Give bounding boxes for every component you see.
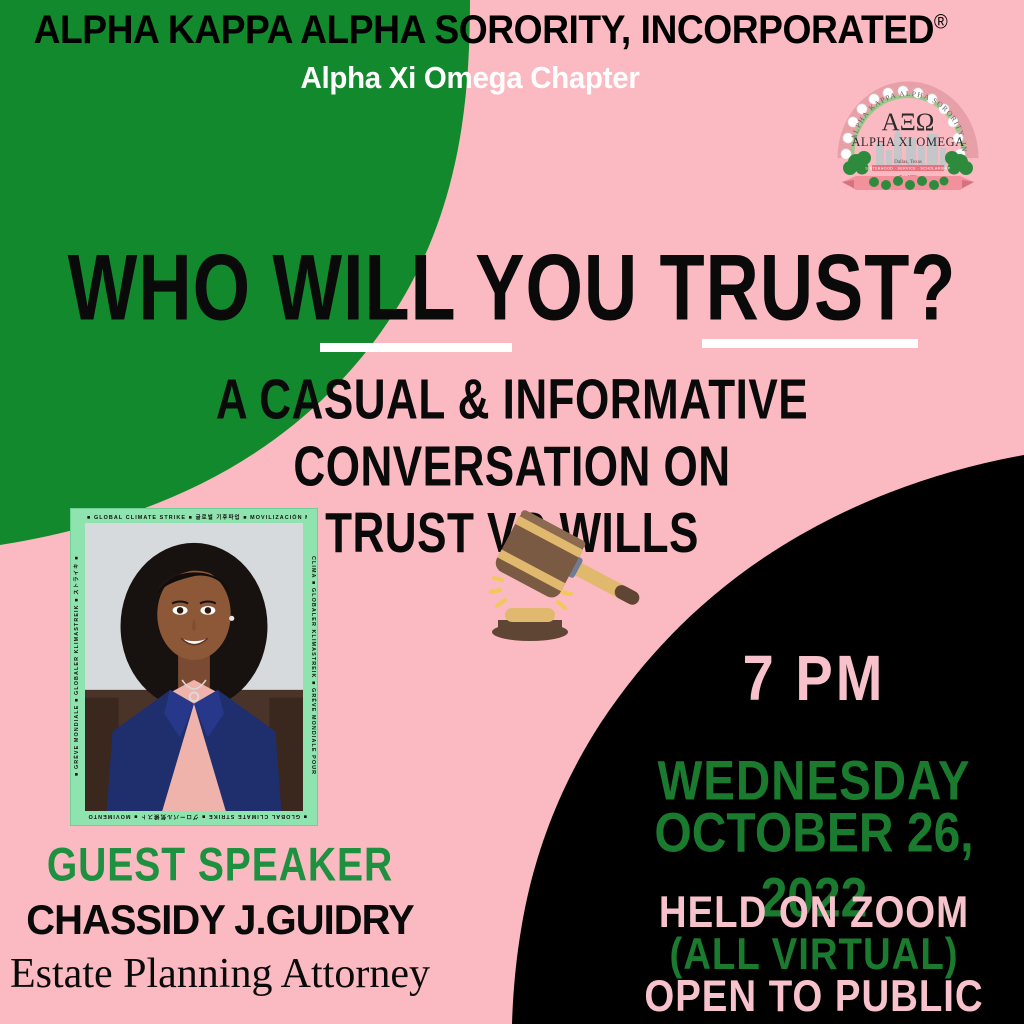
event-time: 7 PM — [604, 640, 1024, 715]
page-title: ALPHA KAPPA ALPHA SORORITY, INCORPORATED… — [34, 8, 927, 53]
registered-trademark-icon: ® — [934, 12, 947, 34]
divider-rule-right — [702, 339, 918, 348]
frame-text-left: ■ GRÈVE MONDIALE ■ GLOBALER KLIMASTREIK … — [72, 556, 82, 776]
crest-svg: ALPHA KAPPA ALPHA SORORITY, INC ΑΞΩ ALPH… — [828, 58, 988, 198]
divider-rule-left — [320, 343, 512, 352]
speaker-role: Estate Planning Attorney — [0, 950, 440, 998]
guest-speaker-label: GUEST SPEAKER — [15, 838, 424, 892]
frame-text-right: CLIMA ■ GLOBALER KLIMASTREIK ■ GRÈVE MON… — [308, 556, 318, 776]
speaker-portrait-illustration — [85, 523, 303, 811]
crest-motto: SISTERHOOD · SERVICE · SCHOLARSHIP — [865, 167, 950, 171]
speaker-photo — [85, 523, 303, 811]
subheadline-line-1: A CASUAL & INFORMATIVE CONVERSATION ON — [51, 368, 973, 501]
crest-greek-letters: ΑΞΩ — [882, 109, 935, 136]
headline: WHO WILL YOU TRUST? — [61, 240, 962, 334]
org-title-text: ALPHA KAPPA ALPHA SORORITY, INCORPORATED — [34, 8, 934, 52]
speaker-name: CHASSIDY J.GUIDRY — [11, 896, 429, 944]
crest-chapter-name: ALPHA XI OMEGA — [851, 135, 964, 149]
chapter-subtitle: Alpha Xi Omega Chapter — [24, 60, 917, 96]
frame-text-bottom: ■ GLOBAL CLIMATE STRIKE ■ グローバル気候スト ■ MO… — [87, 811, 307, 821]
chapter-crest-logo: ALPHA KAPPA ALPHA SORORITY, INC ΑΞΩ ALPH… — [828, 58, 988, 198]
crest-city: Dallas, Texas — [894, 159, 922, 165]
gavel-icon — [478, 508, 648, 658]
event-flyer: ALPHA KAPPA ALPHA SORORITY, INCORPORATED… — [0, 0, 1024, 1024]
event-venue-line-3: OPEN TO PUBLIC — [612, 972, 1015, 1022]
speaker-photo-frame: ■ GLOBAL CLIMATE STRIKE ■ 글로벌 기후파업 ■ MOV… — [70, 508, 318, 826]
frame-text-top: ■ GLOBAL CLIMATE STRIKE ■ 글로벌 기후파업 ■ MOV… — [87, 513, 307, 523]
